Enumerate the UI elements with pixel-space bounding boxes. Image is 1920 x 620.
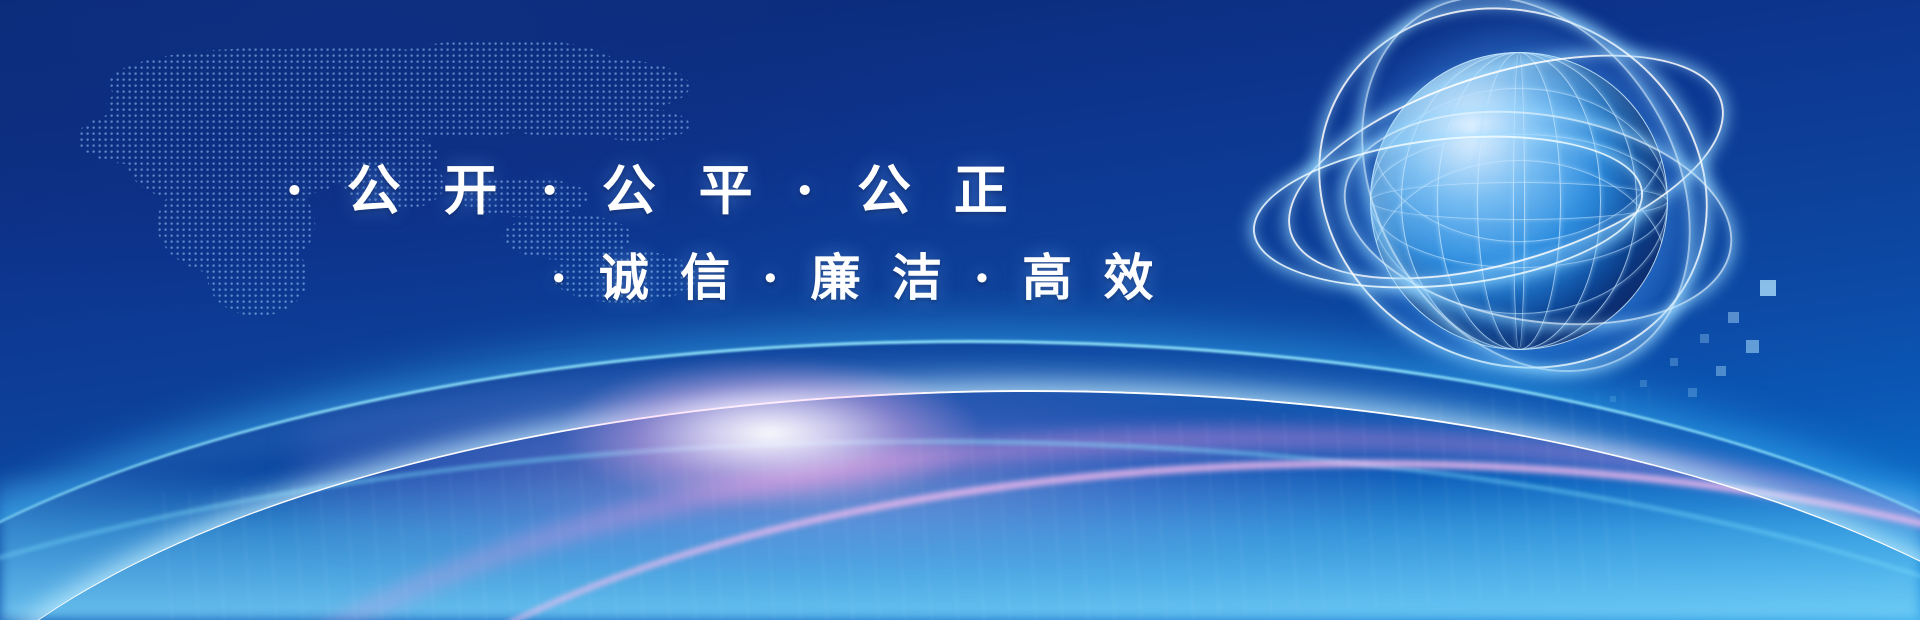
banner-root: · 公 开 · 公 平 · 公 正 · 诚 信 · 廉 洁 · 高 效 [0, 0, 1920, 620]
wave-hotspot [560, 358, 980, 508]
dot-matrix-world-map [20, 6, 740, 336]
light-wave-arc [0, 290, 1920, 620]
